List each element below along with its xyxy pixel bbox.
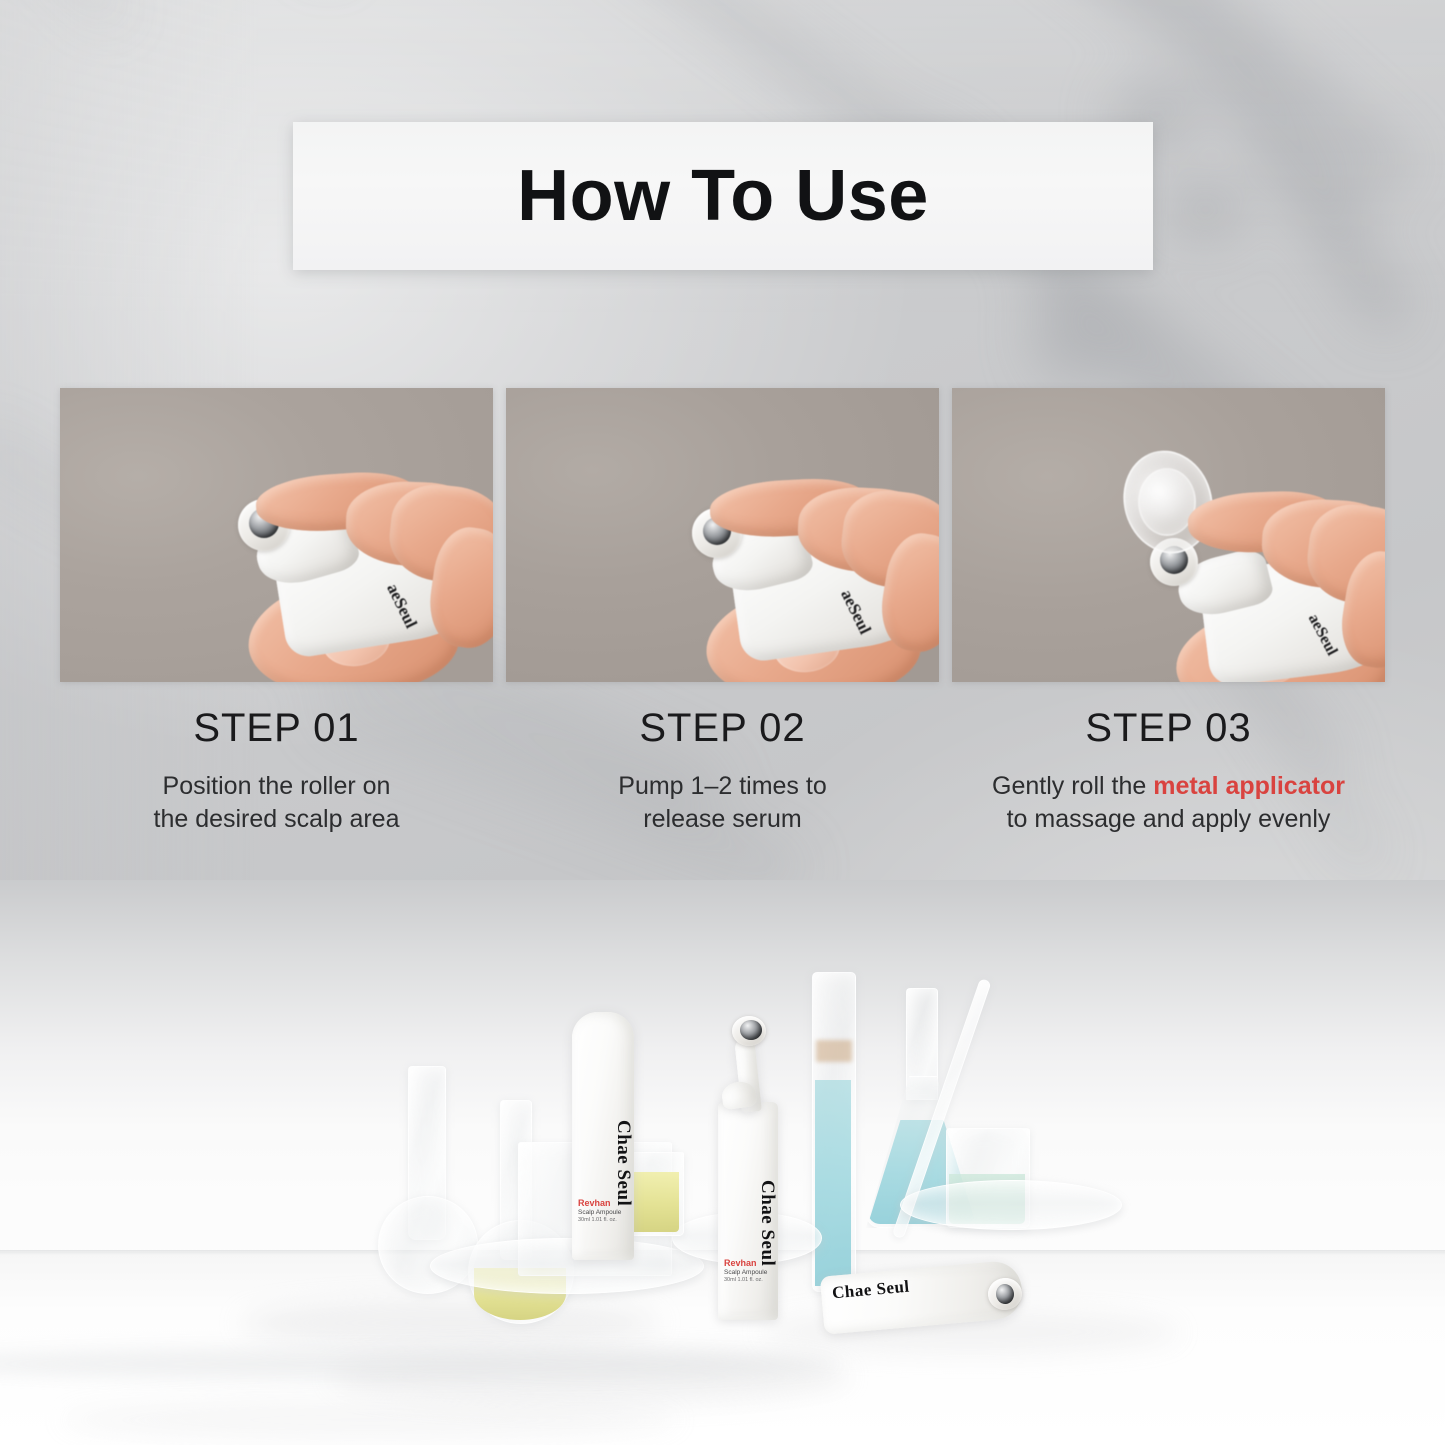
product-hero-scene: Chae Seul Revhan Scalp Ampoule 30ml 1.01… bbox=[0, 880, 1445, 1445]
step-desc-1-line1: Position the roller on bbox=[163, 772, 391, 800]
cast-shadow-far bbox=[60, 1400, 680, 1440]
step-description-1: Position the roller on the desired scalp… bbox=[154, 770, 400, 836]
product-type-2: Scalp Ampoule bbox=[724, 1269, 767, 1277]
step-desc-1-line2: the desired scalp area bbox=[154, 805, 400, 833]
step-desc-2-line1: Pump 1–2 times to bbox=[618, 772, 826, 800]
liquid-blue-cylinder bbox=[815, 1080, 851, 1286]
step-card-1: aeSeul STEP 01 Position the roller on th… bbox=[60, 388, 493, 836]
petri-dish-right bbox=[900, 1180, 1122, 1230]
product-line-name-2: Revhan bbox=[724, 1258, 767, 1269]
step-label-1: STEP 01 bbox=[193, 708, 359, 748]
how-to-use-infographic: How To Use bbox=[0, 0, 1445, 1445]
step-label-3: STEP 03 bbox=[1085, 708, 1251, 748]
step-card-3: aeSeul STEP 03 Gently roll the metal app… bbox=[952, 388, 1385, 836]
step-description-3: Gently roll the metal applicator to mass… bbox=[992, 770, 1345, 836]
cast-shadow-left bbox=[240, 1300, 660, 1346]
petri-dish-left bbox=[430, 1238, 704, 1294]
roller-metal-ball bbox=[740, 1020, 762, 1040]
step-photo-2: aeSeul bbox=[506, 388, 939, 682]
steps-row: aeSeul STEP 01 Position the roller on th… bbox=[60, 388, 1385, 836]
step-photo-3: aeSeul bbox=[952, 388, 1385, 682]
step-card-2: aeSeul STEP 02 Pump 1–2 times to release… bbox=[506, 388, 939, 836]
step-desc-2-line2: release serum bbox=[643, 805, 801, 833]
product-volume-2: 30ml 1.01 fl. oz. bbox=[724, 1277, 767, 1284]
step-desc-3-line2: to massage and apply evenly bbox=[1007, 805, 1331, 833]
step-desc-3-highlight: metal applicator bbox=[1153, 772, 1345, 800]
step-desc-3-prefix: Gently roll the bbox=[992, 772, 1153, 800]
cylinder-band-amber bbox=[816, 1040, 852, 1062]
product-bottle-roller-brand: Chae Seul bbox=[756, 1180, 778, 1266]
product-bottle-capped-label: Revhan Scalp Ampoule 30ml 1.01 fl. oz. bbox=[578, 1198, 621, 1224]
product-volume-1: 30ml 1.01 fl. oz. bbox=[578, 1217, 621, 1224]
product-type-1: Scalp Ampoule bbox=[578, 1209, 621, 1217]
product-line-name-1: Revhan bbox=[578, 1198, 621, 1209]
title-banner: How To Use bbox=[293, 122, 1153, 270]
page-title: How To Use bbox=[517, 160, 929, 232]
product-bottle-roller-label: Revhan Scalp Ampoule 30ml 1.01 fl. oz. bbox=[724, 1258, 767, 1284]
step-photo-1: aeSeul bbox=[60, 388, 493, 682]
product-bottle-capped-brand: Chae Seul bbox=[612, 1120, 634, 1206]
step-description-2: Pump 1–2 times to release serum bbox=[618, 770, 826, 836]
step-label-2: STEP 02 bbox=[639, 708, 805, 748]
